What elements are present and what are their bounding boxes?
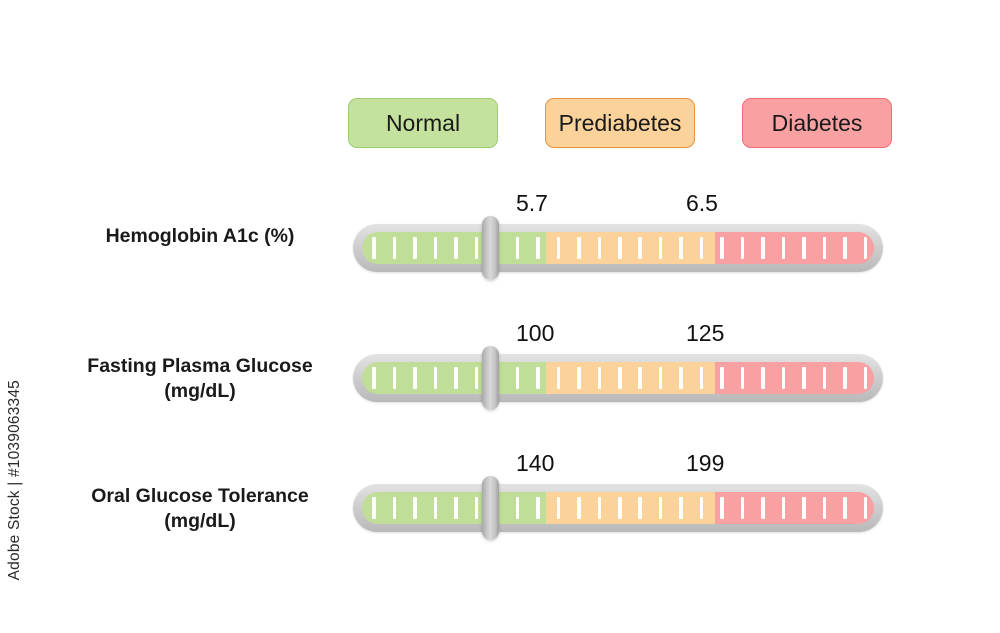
legend-item-diabetes: Diabetes [742,98,892,148]
threshold-value-upper-2: 199 [686,450,724,477]
gauge-row-label-line1: Hemoglobin A1c (%) [106,225,295,247]
gauge-row-fasting-plasma-glucose: Fasting Plasma Glucose (mg/dL) 100 125 [0,320,1000,440]
gauge-row-hemoglobin-a1c: Hemoglobin A1c (%) 5.7 6.5 [0,190,1000,310]
gauge-track-1 [353,354,883,402]
gauge-segment-diabetes-2 [715,492,874,524]
gauge-row-label-line1: Oral Glucose Tolerance [91,485,308,507]
gauge-fill-2 [362,492,874,524]
legend-item-prediabetes: Prediabetes [545,98,695,148]
threshold-value-upper-1: 125 [686,320,724,347]
gauge-row-label-oral-glucose-tolerance: Oral Glucose Tolerance (mg/dL) [60,484,340,534]
threshold-value-lower-2: 140 [516,450,554,477]
legend-item-normal: Normal [348,98,498,148]
gauge-segment-prediabetes-1 [546,362,715,394]
threshold-value-lower-0: 5.7 [516,190,548,217]
gauge-segment-diabetes-1 [715,362,874,394]
gauge-fill-1 [362,362,874,394]
gauge-slider-handle-1[interactable] [482,346,499,410]
gauge-track-0 [353,224,883,272]
gauge-segment-normal-1 [362,362,546,394]
gauge-slider-handle-0[interactable] [482,216,499,280]
gauge-fill-0 [362,232,874,264]
gauge-track-2 [353,484,883,532]
gauge-row-label-fasting-plasma-glucose: Fasting Plasma Glucose (mg/dL) [60,354,340,404]
gauge-segment-normal-0 [362,232,546,264]
gauge-segment-diabetes-0 [715,232,874,264]
legend-label-prediabetes: Prediabetes [559,110,682,137]
legend-label-normal: Normal [386,110,460,137]
gauge-slider-handle-2[interactable] [482,476,499,540]
threshold-value-upper-0: 6.5 [686,190,718,217]
gauge-row-label-hemoglobin-a1c: Hemoglobin A1c (%) [60,224,340,249]
legend-label-diabetes: Diabetes [772,110,863,137]
threshold-value-lower-1: 100 [516,320,554,347]
gauge-row-label-line2: (mg/dL) [60,379,340,404]
gauge-segment-prediabetes-0 [546,232,715,264]
gauge-row-label-line1: Fasting Plasma Glucose [87,355,312,377]
gauge-segment-prediabetes-2 [546,492,715,524]
gauge-row-oral-glucose-tolerance: Oral Glucose Tolerance (mg/dL) 140 199 [0,450,1000,570]
gauge-row-label-line2: (mg/dL) [60,509,340,534]
gauge-segment-normal-2 [362,492,546,524]
legend: Normal Prediabetes Diabetes [0,98,1000,150]
